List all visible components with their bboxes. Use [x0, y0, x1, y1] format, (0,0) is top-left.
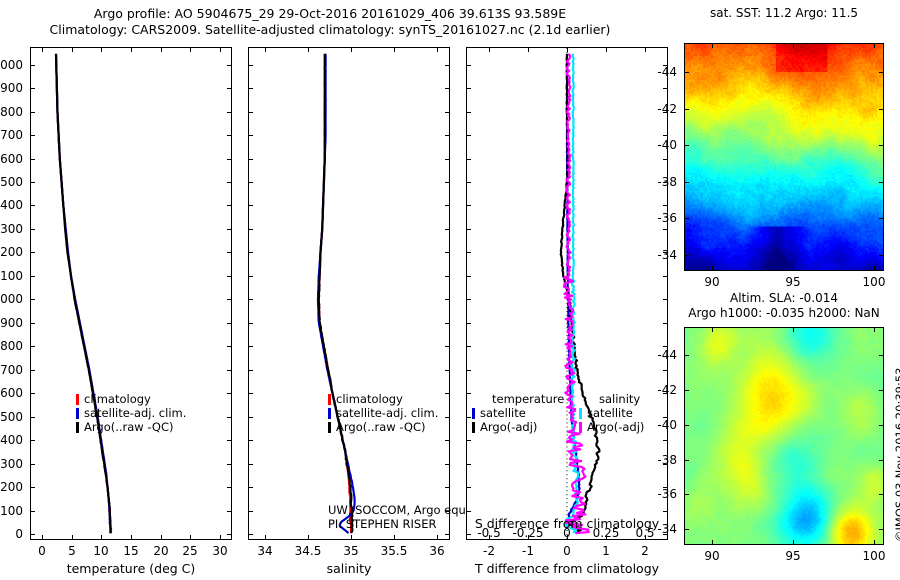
axis-tick — [684, 72, 689, 73]
axis-tick-label: -36 — [657, 488, 677, 500]
series-line-satellite-adj-clim- — [56, 54, 110, 533]
legend-item: Argo(-adj) — [472, 420, 564, 434]
axis-tick-label: 500 — [0, 411, 23, 423]
axis-tick — [30, 464, 35, 465]
salinity-xaxis-label: salinity — [327, 561, 372, 576]
axis-tick — [248, 370, 253, 371]
axis-tick — [131, 535, 132, 540]
salinity-curves — [249, 48, 449, 539]
axis-tick-label: 900 — [0, 317, 23, 329]
axis-tick — [445, 229, 450, 230]
axis-tick — [227, 229, 232, 230]
axis-tick — [684, 460, 689, 461]
axis-tick — [227, 276, 232, 277]
salinity-plot-area — [249, 48, 449, 539]
axis-tick — [30, 205, 35, 206]
axis-tick — [684, 109, 689, 110]
sla-map-axes — [684, 327, 884, 545]
axis-tick-label: 95 — [785, 276, 800, 288]
axis-tick — [874, 43, 875, 48]
axis-tick — [42, 47, 43, 52]
difference-profile-axes — [466, 47, 668, 540]
axis-tick — [248, 252, 253, 253]
axis-tick — [879, 425, 884, 426]
figure-title-line1: Argo profile: AO 5904675_29 29-Oct-2016 … — [0, 6, 660, 22]
axis-tick — [161, 47, 162, 52]
axis-tick — [663, 88, 668, 89]
axis-tick — [879, 494, 884, 495]
axis-tick — [227, 487, 232, 488]
axis-tick — [131, 47, 132, 52]
axis-tick — [466, 135, 471, 136]
legend-swatch-climatology — [328, 394, 331, 405]
axis-tick — [874, 540, 875, 545]
legend-item: climatology — [76, 392, 186, 406]
axis-tick — [684, 425, 689, 426]
sla-map-image — [685, 328, 883, 544]
legend-item: satellite — [579, 406, 644, 420]
axis-tick — [684, 529, 689, 530]
salinity-legend: climatology satellite-adj. clim. Argo(..… — [328, 392, 438, 434]
axis-tick-label: -44 — [657, 349, 677, 361]
axis-tick-label: 2 — [641, 545, 649, 557]
axis-tick-label: -40 — [657, 419, 677, 431]
axis-tick — [663, 229, 668, 230]
legend-swatch-satellite-adj — [76, 408, 79, 419]
sst-map-title: sat. SST: 11.2 Argo: 11.5 — [684, 6, 884, 21]
legend-swatch-climatology — [76, 394, 79, 405]
axis-tick-label: -2 — [483, 545, 495, 557]
axis-tick — [248, 511, 253, 512]
legend-label: Argo(-adj) — [480, 420, 537, 434]
axis-tick — [30, 229, 35, 230]
axis-tick — [265, 535, 266, 540]
axis-tick — [248, 88, 253, 89]
axis-tick — [308, 535, 309, 540]
axis-tick — [874, 266, 875, 271]
axis-tick-label: -42 — [657, 103, 677, 115]
legend-swatch-temperature-argo-adj — [472, 422, 475, 433]
axis-tick — [528, 47, 529, 52]
axis-tick-label: 34.5 — [295, 545, 322, 557]
axis-tick-label: 100 — [863, 276, 886, 288]
axis-tick — [712, 43, 713, 48]
axis-tick-label: 1400 — [0, 199, 23, 211]
axis-tick — [466, 393, 471, 394]
axis-tick — [445, 276, 450, 277]
axis-tick — [248, 346, 253, 347]
axis-tick-label: 700 — [0, 364, 23, 376]
axis-tick — [30, 252, 35, 253]
axis-tick-label: 0 — [563, 545, 571, 557]
axis-tick — [248, 417, 253, 418]
axis-tick — [445, 440, 450, 441]
axis-tick-label: 20 — [153, 545, 168, 557]
axis-tick — [161, 535, 162, 540]
axis-tick — [248, 229, 253, 230]
axis-tick — [30, 159, 35, 160]
axis-tick — [445, 346, 450, 347]
axis-tick — [466, 229, 471, 230]
temperature-xaxis-label: temperature (deg C) — [67, 561, 196, 576]
axis-tick — [30, 511, 35, 512]
axis-tick — [466, 346, 471, 347]
axis-tick — [248, 440, 253, 441]
axis-tick-label: 1200 — [0, 246, 23, 258]
difference-curves — [467, 48, 667, 539]
axis-tick-label: -38 — [657, 454, 677, 466]
legend-swatch-salinity-argo-adj — [579, 422, 582, 433]
axis-tick-label: 25 — [182, 545, 197, 557]
axis-tick-label: 10 — [93, 545, 108, 557]
axis-tick — [466, 511, 471, 512]
axis-tick-label: 400 — [0, 434, 23, 446]
axis-tick — [663, 323, 668, 324]
axis-tick — [227, 417, 232, 418]
axis-tick-label: 15 — [123, 545, 138, 557]
pi-credit: PI: STEPHEN RISER — [328, 517, 437, 531]
axis-tick — [30, 299, 35, 300]
axis-tick-label: 0 — [38, 545, 46, 557]
axis-tick — [30, 487, 35, 488]
figure-title: Argo profile: AO 5904675_29 29-Oct-2016 … — [0, 6, 660, 38]
axis-tick-label: 1700 — [0, 129, 23, 141]
axis-tick — [445, 323, 450, 324]
axis-tick — [466, 182, 471, 183]
series-line-satellite-adj-clim- — [318, 54, 355, 533]
axis-tick-label: 35 — [343, 545, 358, 557]
axis-tick — [445, 65, 450, 66]
axis-tick — [489, 47, 490, 52]
axis-tick — [879, 72, 884, 73]
axis-tick — [663, 159, 668, 160]
axis-tick — [445, 205, 450, 206]
axis-tick-label: 100 — [0, 505, 23, 517]
axis-tick — [227, 65, 232, 66]
axis-tick-label: 1500 — [0, 176, 23, 188]
axis-tick — [248, 276, 253, 277]
axis-tick — [466, 299, 471, 300]
axis-tick — [663, 135, 668, 136]
axis-tick — [227, 346, 232, 347]
axis-tick — [466, 276, 471, 277]
axis-tick — [445, 182, 450, 183]
difference-plot-area — [467, 48, 667, 539]
axis-tick — [879, 255, 884, 256]
axis-tick — [445, 112, 450, 113]
legend-item: Argo(..raw -QC) — [76, 420, 186, 434]
axis-tick — [227, 370, 232, 371]
axis-tick — [30, 323, 35, 324]
axis-tick — [663, 440, 668, 441]
axis-tick-label: 1000 — [0, 293, 23, 305]
axis-tick — [30, 417, 35, 418]
axis-tick-label: 300 — [0, 458, 23, 470]
axis-tick — [42, 535, 43, 540]
axis-tick — [351, 47, 352, 52]
salinity-profile-axes — [248, 47, 450, 540]
legend-label: Argo(..raw -QC) — [84, 420, 174, 434]
axis-tick-label: 34 — [257, 545, 272, 557]
axis-tick — [445, 534, 450, 535]
axis-tick-label: -34 — [657, 523, 677, 535]
legend-swatch-temperature-satellite — [472, 408, 475, 419]
axis-tick-label: -38 — [657, 176, 677, 188]
legend-item: satellite-adj. clim. — [76, 406, 186, 420]
axis-tick — [30, 276, 35, 277]
axis-tick — [248, 534, 253, 535]
axis-tick — [466, 370, 471, 371]
axis-tick — [466, 464, 471, 465]
axis-tick — [227, 182, 232, 183]
sst-map-axes — [684, 43, 884, 271]
legend-swatch-salinity-satellite — [579, 408, 582, 419]
axis-tick — [227, 205, 232, 206]
axis-tick — [466, 112, 471, 113]
axis-tick-label: 1600 — [0, 153, 23, 165]
axis-tick — [466, 159, 471, 160]
difference-salinity-axis-label: S difference from climatology — [475, 516, 659, 531]
axis-tick — [248, 299, 253, 300]
axis-tick — [248, 487, 253, 488]
axis-tick — [684, 355, 689, 356]
axis-tick-label: -40 — [657, 139, 677, 151]
axis-tick — [466, 205, 471, 206]
axis-tick — [248, 135, 253, 136]
axis-tick-label: 1100 — [0, 270, 23, 282]
axis-tick — [445, 88, 450, 89]
axis-tick — [445, 393, 450, 394]
axis-tick — [684, 218, 689, 219]
axis-tick — [663, 370, 668, 371]
axis-tick — [445, 252, 450, 253]
axis-tick — [445, 135, 450, 136]
axis-tick — [445, 487, 450, 488]
axis-tick — [663, 511, 668, 512]
sst-map-image — [685, 44, 883, 270]
legend-label: satellite-adj. clim. — [84, 406, 186, 420]
axis-tick-label: 1900 — [0, 82, 23, 94]
axis-tick — [874, 327, 875, 332]
axis-tick — [227, 464, 232, 465]
legend-label: satellite — [587, 406, 633, 420]
axis-tick-label: 800 — [0, 340, 23, 352]
axis-tick — [684, 390, 689, 391]
axis-tick-label: -1 — [522, 545, 534, 557]
axis-tick — [879, 145, 884, 146]
axis-tick — [445, 370, 450, 371]
legend-item: satellite-adj. clim. — [328, 406, 438, 420]
axis-tick — [445, 299, 450, 300]
axis-tick — [445, 159, 450, 160]
axis-tick — [712, 266, 713, 271]
legend-swatch-argo — [76, 422, 79, 433]
legend-label: climatology — [84, 392, 151, 406]
difference-temperature-legend: temperature satellite Argo(-adj) — [472, 392, 564, 434]
axis-tick — [248, 182, 253, 183]
legend-swatch-satellite-adj — [328, 408, 331, 419]
axis-tick — [394, 47, 395, 52]
axis-tick — [684, 255, 689, 256]
axis-tick — [437, 535, 438, 540]
axis-tick — [227, 112, 232, 113]
axis-tick — [30, 534, 35, 535]
axis-tick — [663, 276, 668, 277]
axis-tick — [445, 417, 450, 418]
axis-tick-label: 1 — [602, 545, 610, 557]
axis-tick — [227, 135, 232, 136]
difference-salinity-legend: salinity satellite Argo(-adj) — [579, 392, 644, 434]
axis-tick — [793, 327, 794, 332]
axis-tick — [227, 393, 232, 394]
axis-tick-label: 30 — [212, 545, 227, 557]
axis-tick — [190, 47, 191, 52]
axis-tick-label: 100 — [863, 550, 886, 562]
axis-tick — [30, 440, 35, 441]
axis-tick — [684, 145, 689, 146]
axis-tick — [72, 47, 73, 52]
axis-tick — [645, 47, 646, 52]
legend-item: Argo(..raw -QC) — [328, 420, 438, 434]
legend-label: satellite-adj. clim. — [336, 406, 438, 420]
legend-item: satellite — [472, 406, 564, 420]
axis-tick-label: 1800 — [0, 106, 23, 118]
axis-tick — [663, 299, 668, 300]
axis-tick — [437, 47, 438, 52]
figure-canvas: Argo profile: AO 5904675_29 29-Oct-2016 … — [0, 0, 900, 580]
axis-tick — [445, 464, 450, 465]
axis-tick — [30, 346, 35, 347]
axis-tick — [879, 182, 884, 183]
axis-tick — [466, 534, 471, 535]
axis-tick — [712, 327, 713, 332]
axis-tick — [466, 417, 471, 418]
legend-label: Argo(..raw -QC) — [336, 420, 426, 434]
axis-tick-label: -36 — [657, 212, 677, 224]
axis-tick — [30, 370, 35, 371]
axis-tick-label: -44 — [657, 66, 677, 78]
axis-tick — [227, 88, 232, 89]
axis-tick — [879, 218, 884, 219]
sla-map-title-line2: Argo h1000: -0.035 h2000: NaN — [664, 306, 900, 321]
axis-tick — [220, 535, 221, 540]
axis-tick — [879, 529, 884, 530]
legend-swatch-argo — [328, 422, 331, 433]
legend-label: climatology — [336, 392, 403, 406]
axis-tick — [879, 109, 884, 110]
copyright-text: ©IMOS 03-Nov-2016 20:39:53 — [893, 368, 900, 542]
axis-tick-label: 36 — [429, 545, 444, 557]
axis-tick-label: 90 — [704, 276, 719, 288]
axis-tick-label: 90 — [704, 550, 719, 562]
axis-tick — [248, 112, 253, 113]
axis-tick — [351, 535, 352, 540]
axis-tick — [30, 135, 35, 136]
axis-tick — [606, 47, 607, 52]
axis-tick — [663, 346, 668, 347]
axis-tick — [793, 43, 794, 48]
axis-tick — [308, 47, 309, 52]
figure-title-line2: Climatology: CARS2009. Satellite-adjuste… — [0, 22, 660, 38]
axis-tick — [30, 65, 35, 66]
axis-tick — [227, 299, 232, 300]
axis-tick-label: 95 — [785, 550, 800, 562]
sla-map-title-line1: Altim. SLA: -0.014 — [684, 291, 884, 306]
legend-item: climatology — [328, 392, 438, 406]
legend-label: satellite — [480, 406, 526, 420]
axis-tick-label: 600 — [0, 387, 23, 399]
legend-header-salinity: salinity — [579, 392, 644, 406]
axis-tick — [30, 88, 35, 89]
temperature-plot-area — [31, 48, 231, 539]
axis-tick — [248, 159, 253, 160]
axis-tick — [879, 355, 884, 356]
axis-tick — [220, 47, 221, 52]
series-line-argo-raw-qc- — [56, 54, 111, 533]
axis-tick — [101, 47, 102, 52]
axis-tick — [684, 182, 689, 183]
axis-tick — [30, 112, 35, 113]
axis-tick-label: 2000 — [0, 59, 23, 71]
axis-tick-label: 35.5 — [381, 545, 408, 557]
axis-tick — [227, 252, 232, 253]
axis-tick — [684, 494, 689, 495]
axis-tick — [466, 487, 471, 488]
axis-tick-label: -34 — [657, 249, 677, 261]
legend-label: Argo(-adj) — [587, 420, 644, 434]
axis-tick — [248, 323, 253, 324]
axis-tick — [248, 205, 253, 206]
axis-tick — [466, 88, 471, 89]
axis-tick — [101, 535, 102, 540]
axis-tick — [793, 266, 794, 271]
temperature-profile-axes — [30, 47, 232, 540]
axis-tick — [466, 323, 471, 324]
axis-tick — [879, 390, 884, 391]
axis-tick — [72, 535, 73, 540]
temperature-legend: climatology satellite-adj. clim. Argo(..… — [76, 392, 186, 434]
axis-tick — [248, 393, 253, 394]
difference-temperature-axis-label: T difference from climatology — [475, 561, 659, 576]
axis-tick-label: -42 — [657, 384, 677, 396]
axis-tick — [466, 252, 471, 253]
axis-tick — [227, 159, 232, 160]
legend-item: Argo(-adj) — [579, 420, 644, 434]
axis-tick — [879, 460, 884, 461]
axis-tick — [712, 540, 713, 545]
axis-tick — [227, 511, 232, 512]
axis-tick — [394, 535, 395, 540]
axis-tick — [248, 65, 253, 66]
axis-tick — [265, 47, 266, 52]
axis-tick — [248, 464, 253, 465]
axis-tick — [466, 65, 471, 66]
axis-tick — [663, 205, 668, 206]
axis-tick — [466, 440, 471, 441]
axis-tick-label: 0 — [15, 528, 23, 540]
axis-tick — [227, 323, 232, 324]
axis-tick — [227, 440, 232, 441]
axis-tick-label: 1300 — [0, 223, 23, 235]
axis-tick-label: 200 — [0, 481, 23, 493]
series-line-argo-raw-qc- — [319, 54, 353, 533]
axis-tick — [190, 535, 191, 540]
temperature-curves — [31, 48, 231, 539]
legend-header-temperature: temperature — [472, 392, 564, 406]
axis-tick — [30, 182, 35, 183]
axis-tick — [567, 47, 568, 52]
axis-tick — [793, 540, 794, 545]
